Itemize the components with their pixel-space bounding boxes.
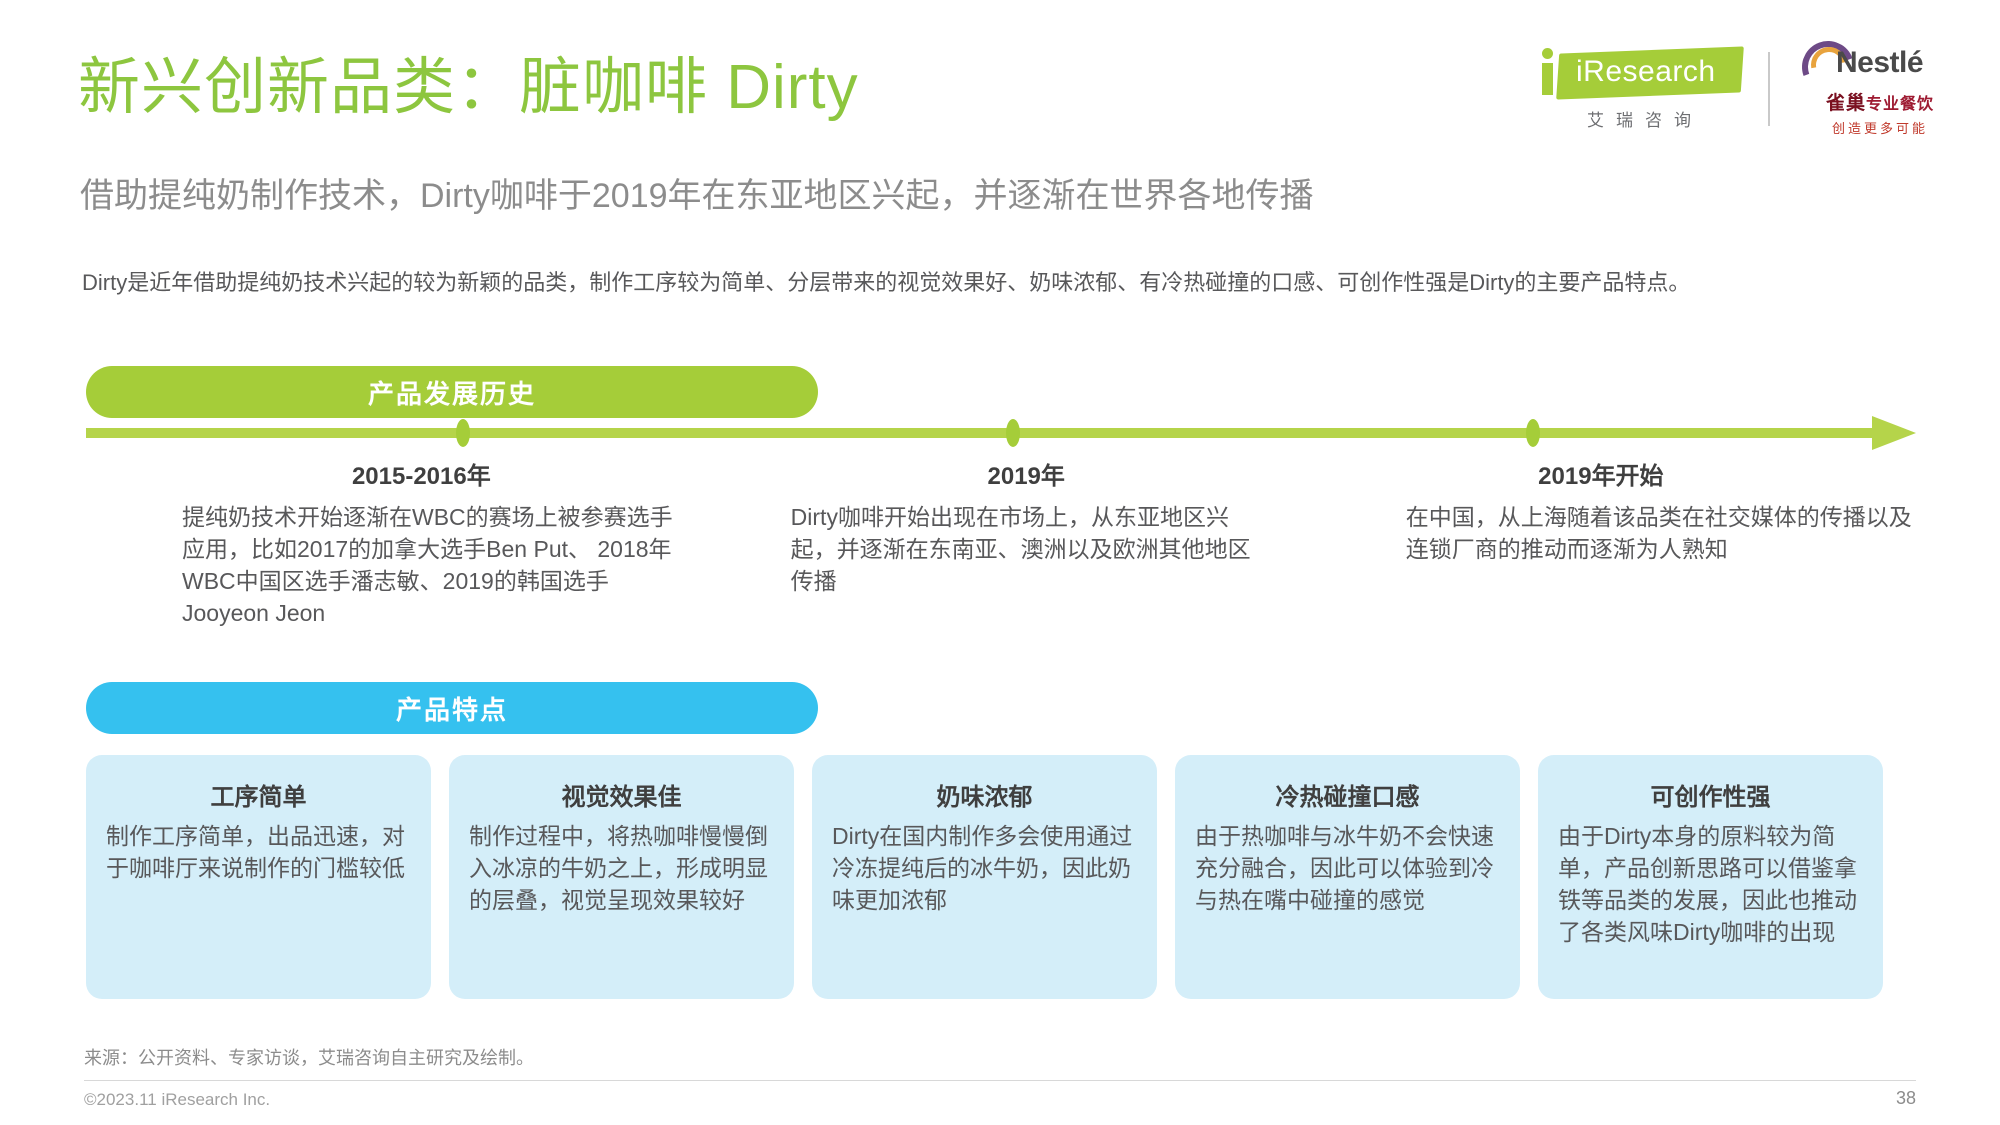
nestle-wordmark: Nestlé <box>1836 46 1923 80</box>
timeline-axis <box>86 415 1916 449</box>
timeline-dot-1 <box>456 419 470 447</box>
feature-card-title: 视觉效果佳 <box>469 777 774 812</box>
timeline-bar <box>86 428 1876 438</box>
nestle-chinese-brand: 雀巢 <box>1826 93 1866 114</box>
nestle-chinese-suffix: 专业餐饮 <box>1866 96 1934 113</box>
milestone-description: 在中国，从上海随着该品类在社交媒体的传播以及连锁厂商的推动而逐渐为人熟知 <box>1406 501 1916 565</box>
nestle-mark-icon: Nestlé <box>1796 40 1964 86</box>
page-title: 新兴创新品类：脏咖啡 Dirty <box>78 52 859 124</box>
feature-card-title: 奶味浓郁 <box>832 777 1137 812</box>
source-note: 来源：公开资料、专家访谈，艾瑞咨询自主研究及绘制。 <box>84 1044 534 1070</box>
feature-card-body: 制作工序简单，出品迅速，对于咖啡厅来说制作的门槛较低 <box>106 820 411 884</box>
page-number: 38 <box>1896 1088 1916 1109</box>
feature-card-body: 由于Dirty本身的原料较为简单，产品创新思路可以借鉴拿铁等品类的发展，因此也推… <box>1558 820 1863 948</box>
timeline-arrow-icon <box>1872 416 1916 450</box>
iresearch-mark-icon: iResearch <box>1536 46 1742 98</box>
milestone-year: 2019年 <box>791 456 1262 491</box>
section-banner-features: 产品特点 <box>86 682 818 734</box>
feature-card: 冷热碰撞口感 由于热咖啡与冰牛奶不会快速充分融合，因此可以体验到冷与热在嘴中碰撞… <box>1175 755 1520 999</box>
iresearch-chinese-name: 艾瑞咨询 <box>1575 106 1703 131</box>
feature-card-title: 工序简单 <box>106 777 411 812</box>
milestone-description: 提纯奶技术开始逐渐在WBC的赛场上被参赛选手应用，比如2017的加拿大选手Ben… <box>182 501 673 629</box>
footer-divider <box>84 1080 1916 1081</box>
feature-card-title: 冷热碰撞口感 <box>1195 777 1500 812</box>
feature-card: 可创作性强 由于Dirty本身的原料较为简单，产品创新思路可以借鉴拿铁等品类的发… <box>1538 755 1883 999</box>
feature-card-body: 制作过程中，将热咖啡慢慢倒入冰凉的牛奶之上，形成明显的层叠，视觉呈现效果较好 <box>469 820 774 916</box>
timeline-dot-2 <box>1006 419 1020 447</box>
milestone-year: 2015-2016年 <box>182 456 673 491</box>
iresearch-wordmark: iResearch <box>1576 54 1716 90</box>
lead-paragraph: Dirty是近年借助提纯奶技术兴起的较为新颖的品类，制作工序较为简单、分层带来的… <box>82 268 1690 298</box>
iresearch-i-stem-icon <box>1542 63 1553 95</box>
logo-divider <box>1768 52 1770 126</box>
timeline-columns: 2015-2016年 提纯奶技术开始逐渐在WBC的赛场上被参赛选手应用，比如20… <box>86 456 1916 629</box>
nestle-chinese-name: 雀巢专业餐饮 <box>1826 88 1934 115</box>
section-banner-history: 产品发展历史 <box>86 366 818 418</box>
feature-card-body: Dirty在国内制作多会使用通过冷冻提纯后的冰牛奶，因此奶味更加浓郁 <box>832 820 1137 916</box>
feature-card-list: 工序简单 制作工序简单，出品迅速，对于咖啡厅来说制作的门槛较低 视觉效果佳 制作… <box>86 755 1916 999</box>
timeline-milestone-1: 2015-2016年 提纯奶技术开始逐渐在WBC的赛场上被参赛选手应用，比如20… <box>86 456 673 629</box>
milestone-description: Dirty咖啡开始出现在市场上，从东亚地区兴起，并逐渐在东南亚、澳洲以及欧洲其他… <box>791 501 1262 597</box>
feature-card: 奶味浓郁 Dirty在国内制作多会使用通过冷冻提纯后的冰牛奶，因此奶味更加浓郁 <box>812 755 1157 999</box>
feature-card: 视觉效果佳 制作过程中，将热咖啡慢慢倒入冰凉的牛奶之上，形成明显的层叠，视觉呈现… <box>449 755 794 999</box>
timeline-milestone-3: 2019年开始 在中国，从上海随着该品类在社交媒体的传播以及连锁厂商的推动而逐渐… <box>1262 456 1916 629</box>
feature-card: 工序简单 制作工序简单，出品迅速，对于咖啡厅来说制作的门槛较低 <box>86 755 431 999</box>
feature-card-title: 可创作性强 <box>1558 777 1863 812</box>
milestone-year: 2019年开始 <box>1406 456 1916 491</box>
slide-canvas: 新兴创新品类：脏咖啡 Dirty 借助提纯奶制作技术，Dirty咖啡于2019年… <box>0 0 2000 1125</box>
iresearch-i-dot-icon <box>1542 48 1553 59</box>
nestle-logo: Nestlé 雀巢专业餐饮 创造更多可能 <box>1796 40 1964 137</box>
timeline-milestone-2: 2019年 Dirty咖啡开始出现在市场上，从东亚地区兴起，并逐渐在东南亚、澳洲… <box>673 456 1262 629</box>
logo-zone: iResearch 艾瑞咨询 Nestlé 雀巢专业餐饮 创造更多可能 <box>1536 40 1964 137</box>
feature-card-body: 由于热咖啡与冰牛奶不会快速充分融合，因此可以体验到冷与热在嘴中碰撞的感觉 <box>1195 820 1500 916</box>
copyright-text: ©2023.11 iResearch Inc. <box>84 1090 270 1110</box>
page-subtitle: 借助提纯奶制作技术，Dirty咖啡于2019年在东亚地区兴起，并逐渐在世界各地传… <box>80 176 1314 216</box>
timeline-dot-3 <box>1526 419 1540 447</box>
iresearch-logo: iResearch 艾瑞咨询 <box>1536 46 1742 131</box>
nestle-slogan: 创造更多可能 <box>1832 118 1928 137</box>
